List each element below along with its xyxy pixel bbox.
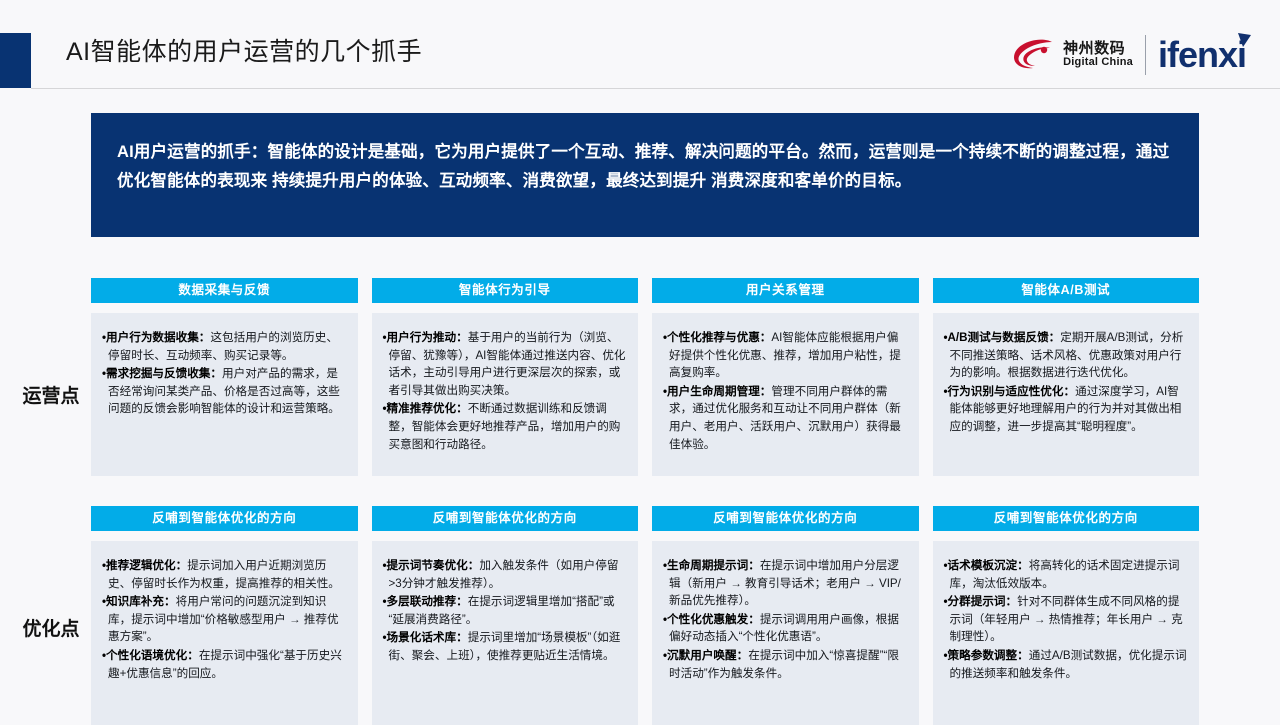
grid-row-optimization: 反哺到智能体优化的方向 •推荐逻辑优化：提示词加入用户近期浏览历史、停留时长作为… (91, 506, 1199, 725)
list-item: •精准推荐优化：不断通过数据训练和反馈调整，智能体会更好地推荐产品，增加用户的购… (383, 400, 628, 453)
card-feedback-direction-4[interactable]: 反哺到智能体优化的方向 •话术模板沉淀：将高转化的话术固定进提示词库，淘汰低效版… (933, 506, 1200, 725)
card-header: 用户关系管理 (652, 278, 919, 303)
row-label-operations: 运营点 (12, 381, 90, 408)
header-accent-block (0, 33, 31, 88)
digital-china-en: Digital China (1063, 57, 1133, 69)
card-body: •A/B测试与数据反馈：定期开展A/B测试，分析不同推送策略、话术风格、优惠政策… (933, 313, 1200, 476)
card-body: •个性化推荐与优惠：AI智能体应能根据用户偏好提供个性化优惠、推荐，增加用户粘性… (652, 313, 919, 476)
brand-divider (1145, 35, 1146, 75)
list-item: •话术模板沉淀：将高转化的话术固定进提示词库，淘汰低效版本。 (944, 557, 1189, 592)
list-item: •多层联动推荐：在提示词逻辑里增加“搭配”或“延展消费路径”。 (383, 593, 628, 628)
list-item: •行为识别与适应性优化：通过深度学习，AI智能体能够更好地理解用户的行为并对其做… (944, 383, 1189, 436)
bullet-lead: •个性化优惠触发： (663, 613, 760, 626)
card-body: •用户行为推动：基于用户的当前行为（浏览、停留、犹豫等），AI智能体通过推送内容… (372, 313, 639, 476)
grid-row-operations: 数据采集与反馈 •用户行为数据收集：这包括用户的浏览历史、停留时长、互动频率、购… (91, 278, 1199, 476)
bullet-lead: •话术模板沉淀： (944, 559, 1029, 572)
list-item: •策略参数调整：通过A/B测试数据，优化提示词的推送频率和触发条件。 (944, 647, 1189, 682)
card-body: •推荐逻辑优化：提示词加入用户近期浏览历史、停留时长作为权重，提高推荐的相关性。… (91, 541, 358, 725)
card-header: 数据采集与反馈 (91, 278, 358, 303)
list-item: •生命周期提示词：在提示词中增加用户分层逻辑（新用户 → 教育引导话术；老用户 … (663, 557, 908, 610)
list-item: •用户行为推动：基于用户的当前行为（浏览、停留、犹豫等），AI智能体通过推送内容… (383, 329, 628, 399)
card-body: •用户行为数据收集：这包括用户的浏览历史、停留时长、互动频率、购买记录等。 •需… (91, 313, 358, 476)
list-item: •个性化推荐与优惠：AI智能体应能根据用户偏好提供个性化优惠、推荐，增加用户粘性… (663, 329, 908, 382)
bullet-lead: •需求挖掘与反馈收集： (102, 367, 222, 380)
card-header: 反哺到智能体优化的方向 (372, 506, 639, 531)
card-feedback-direction-3[interactable]: 反哺到智能体优化的方向 •生命周期提示词：在提示词中增加用户分层逻辑（新用户 →… (652, 506, 919, 725)
card-header: 反哺到智能体优化的方向 (933, 506, 1200, 531)
list-item: •个性化优惠触发：提示词调用用户画像，根据偏好动态插入“个性化优惠语”。 (663, 611, 908, 646)
card-header: 智能体A/B测试 (933, 278, 1200, 303)
slide-header: AI智能体的用户运营的几个抓手 神州数码 Digital China ifenx… (0, 0, 1280, 89)
card-header: 反哺到智能体优化的方向 (652, 506, 919, 531)
card-header: 反哺到智能体优化的方向 (91, 506, 358, 531)
list-item: •需求挖掘与反馈收集：用户对产品的需求，是否经常询问某类产品、价格是否过高等，这… (102, 365, 347, 418)
card-user-relationship-management[interactable]: 用户关系管理 •个性化推荐与优惠：AI智能体应能根据用户偏好提供个性化优惠、推荐… (652, 278, 919, 476)
bullet-lead: •生命周期提示词： (663, 559, 760, 572)
summary-callout-text: AI用户运营的抓手：智能体的设计是基础，它为用户提供了一个互动、推荐、解决问题的… (117, 138, 1173, 196)
brand-lockup: 神州数码 Digital China ifenxi (1012, 30, 1250, 80)
summary-callout: AI用户运营的抓手：智能体的设计是基础，它为用户提供了一个互动、推荐、解决问题的… (91, 113, 1199, 237)
bullet-lead: •精准推荐优化： (383, 402, 468, 415)
bullet-lead: •用户生命周期管理： (663, 385, 771, 398)
card-agent-behavior-guidance[interactable]: 智能体行为引导 •用户行为推动：基于用户的当前行为（浏览、停留、犹豫等），AI智… (372, 278, 639, 476)
card-body: •生命周期提示词：在提示词中增加用户分层逻辑（新用户 → 教育引导话术；老用户 … (652, 541, 919, 725)
bullet-lead: •提示词节奏优化： (383, 559, 480, 572)
list-item: •个性化语境优化：在提示词中强化“基于历史兴趣+优惠信息”的回应。 (102, 647, 347, 682)
card-feedback-direction-1[interactable]: 反哺到智能体优化的方向 •推荐逻辑优化：提示词加入用户近期浏览历史、停留时长作为… (91, 506, 358, 725)
card-header: 智能体行为引导 (372, 278, 639, 303)
list-item: •沉默用户唤醒：在提示词中加入“惊喜提醒”“限时活动”作为触发条件。 (663, 647, 908, 682)
bullet-lead: •用户行为推动： (383, 331, 468, 344)
digital-china-wordmark: 神州数码 Digital China (1063, 41, 1133, 68)
bullet-lead: •策略参数调整： (944, 649, 1029, 662)
digital-china-cn: 神州数码 (1063, 41, 1133, 57)
card-data-collection[interactable]: 数据采集与反馈 •用户行为数据收集：这包括用户的浏览历史、停留时长、互动频率、购… (91, 278, 358, 476)
list-item: •A/B测试与数据反馈：定期开展A/B测试，分析不同推送策略、话术风格、优惠政策… (944, 329, 1189, 382)
list-item: •分群提示词：针对不同群体生成不同风格的提示词（年轻用户 → 热情推荐；年长用户… (944, 593, 1189, 646)
ifenxi-arrow-icon (1237, 32, 1252, 48)
bullet-lead: •个性化语境优化： (102, 649, 199, 662)
row-label-optimization: 优化点 (12, 614, 90, 641)
card-body: •话术模板沉淀：将高转化的话术固定进提示词库，淘汰低效版本。 •分群提示词：针对… (933, 541, 1200, 725)
list-item: •知识库补充：将用户常问的问题沉淀到知识库，提示词中增加“价格敏感型用户 → 推… (102, 593, 347, 646)
list-item: •推荐逻辑优化：提示词加入用户近期浏览历史、停留时长作为权重，提高推荐的相关性。 (102, 557, 347, 592)
bullet-lead: •知识库补充： (102, 595, 176, 608)
header-divider (31, 88, 1280, 89)
bullet-lead: •A/B测试与数据反馈： (944, 331, 1061, 344)
digital-china-logo: 神州数码 Digital China (1012, 38, 1133, 72)
ifenxi-wordmark: ifenxi (1158, 34, 1246, 75)
card-body: •提示词节奏优化：加入触发条件（如用户停留>3分钟才触发推荐）。 •多层联动推荐… (372, 541, 639, 725)
list-item: •提示词节奏优化：加入触发条件（如用户停留>3分钟才触发推荐）。 (383, 557, 628, 592)
bullet-lead: •用户行为数据收集： (102, 331, 210, 344)
ifenxi-logo: ifenxi (1158, 35, 1250, 75)
list-item: •场景化话术库：提示词里增加“场景模板”（如逛街、聚会、上班），使推荐更贴近生活… (383, 629, 628, 664)
list-item: •用户生命周期管理：管理不同用户群体的需求，通过优化服务和互动让不同用户群体（新… (663, 383, 908, 453)
list-item: •用户行为数据收集：这包括用户的浏览历史、停留时长、互动频率、购买记录等。 (102, 329, 347, 364)
digital-china-swoosh-icon (1012, 38, 1056, 72)
bullet-lead: •沉默用户唤醒： (663, 649, 748, 662)
bullet-lead: •个性化推荐与优惠： (663, 331, 771, 344)
bullet-lead: •场景化话术库： (383, 631, 468, 644)
bullet-lead: •推荐逻辑优化： (102, 559, 187, 572)
page-title: AI智能体的用户运营的几个抓手 (66, 35, 422, 69)
bullet-lead: •分群提示词： (944, 595, 1018, 608)
bullet-lead: •多层联动推荐： (383, 595, 468, 608)
bullet-lead: •行为识别与适应性优化： (944, 385, 1076, 398)
card-ab-testing[interactable]: 智能体A/B测试 •A/B测试与数据反馈：定期开展A/B测试，分析不同推送策略、… (933, 278, 1200, 476)
card-feedback-direction-2[interactable]: 反哺到智能体优化的方向 •提示词节奏优化：加入触发条件（如用户停留>3分钟才触发… (372, 506, 639, 725)
